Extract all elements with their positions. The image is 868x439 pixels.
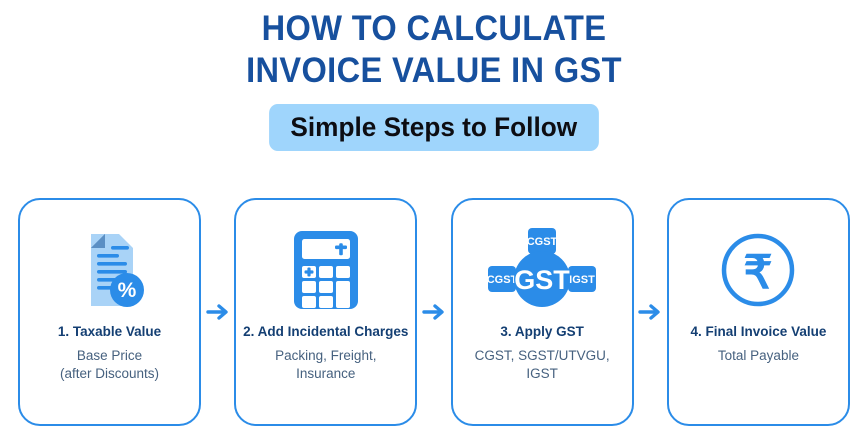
document-percent-icon: % [73, 230, 147, 310]
subtitle-row: Simple Steps to Follow [0, 104, 868, 151]
gst-circle-icon: CGST CGST IGST GST [486, 226, 598, 314]
percent-badge-label: % [117, 279, 136, 302]
step-2-subtitle: Packing, Freight, Insurance [269, 347, 382, 383]
step-3-subtitle: CGST, SGST/UTVGU, IGST [469, 347, 616, 383]
connector-arrow-1 [205, 299, 231, 325]
gst-tag-left-label: CGST [487, 274, 518, 286]
step-1-icon-box: % [73, 222, 147, 318]
step-3-icon-box: CGST CGST IGST GST [486, 222, 598, 318]
steps-row: % 1. Taxable Value Base Price (after Dis… [18, 198, 850, 426]
step-4-title: 4. Final Invoice Value [691, 324, 827, 340]
step-2-subtitle-line-2: Insurance [275, 365, 376, 383]
step-3-title: 3. Apply GST [500, 324, 584, 340]
gst-tag-top-label: CGST [527, 236, 558, 248]
arrow-right-icon [422, 301, 446, 323]
rupee-circle-icon: ₹ [716, 228, 800, 312]
arrow-right-icon [638, 301, 662, 323]
step-4-icon-box: ₹ [716, 222, 800, 318]
calculator-icon [291, 228, 361, 312]
step-card-1[interactable]: % 1. Taxable Value Base Price (after Dis… [18, 198, 201, 426]
step-4-subtitle-line-1: Total Payable [718, 347, 799, 365]
gst-tag-right-label: IGST [569, 274, 595, 286]
step-1-subtitle: Base Price (after Discounts) [54, 347, 165, 383]
gst-center-label: GST [514, 265, 570, 295]
infographic-canvas: HOW TO CALCULATE INVOICE VALUE IN GST Si… [0, 0, 868, 439]
step-1-title: 1. Taxable Value [58, 324, 161, 340]
step-1-subtitle-line-1: Base Price [60, 347, 159, 365]
step-2-title: 2. Add Incidental Charges [243, 324, 408, 340]
header: HOW TO CALCULATE INVOICE VALUE IN GST Si… [0, 0, 868, 151]
step-1-subtitle-line-2: (after Discounts) [60, 365, 159, 383]
step-2-icon-box [291, 222, 361, 318]
subtitle-badge: Simple Steps to Follow [269, 104, 598, 151]
step-4-subtitle: Total Payable [712, 347, 805, 365]
step-2-subtitle-line-1: Packing, Freight, [275, 347, 376, 365]
step-card-2[interactable]: 2. Add Incidental Charges Packing, Freig… [234, 198, 417, 426]
rupee-symbol-label: ₹ [744, 246, 773, 298]
connector-arrow-2 [421, 299, 447, 325]
arrow-right-icon [206, 301, 230, 323]
page-title-line-1: HOW TO CALCULATE [30, 8, 837, 50]
step-card-3[interactable]: CGST CGST IGST GST 3. Apply GST CGST, SG… [451, 198, 634, 426]
page-title-line-2: INVOICE VALUE IN GST [30, 50, 837, 92]
step-3-subtitle-line-1: CGST, SGST/UTVGU, [475, 347, 610, 365]
connector-arrow-3 [637, 299, 663, 325]
step-3-subtitle-line-2: IGST [475, 365, 610, 383]
step-card-4[interactable]: ₹ 4. Final Invoice Value Total Payable [667, 198, 850, 426]
